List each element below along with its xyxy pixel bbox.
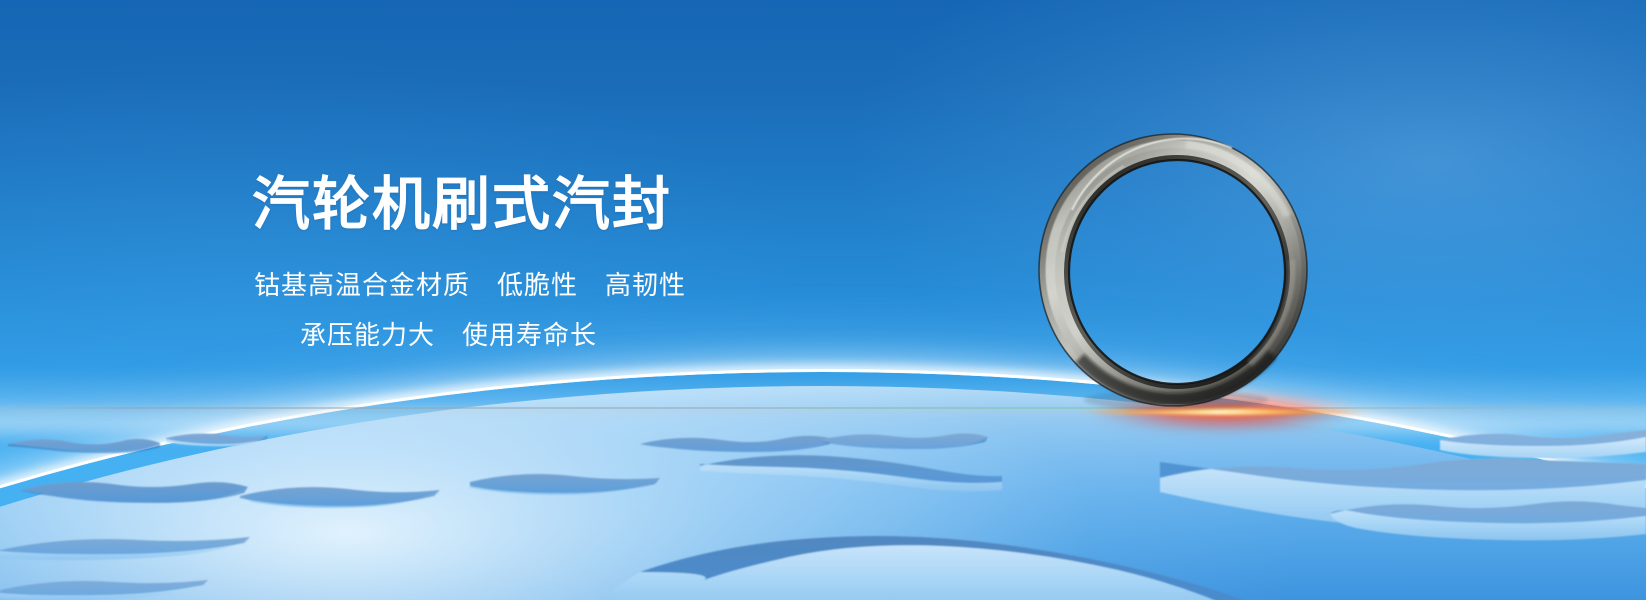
earth-globe-graphic bbox=[0, 0, 1646, 600]
banner-headline: 汽轮机刷式汽封 bbox=[252, 176, 672, 234]
metal-seal-ring-product-image bbox=[1036, 132, 1310, 408]
product-hero-banner: 汽轮机刷式汽封 钴基高温合金材质 低脆性 高韧性 承压能力大 使用寿命长 bbox=[0, 0, 1646, 600]
banner-subtitle-line-1: 钴基高温合金材质 低脆性 高韧性 bbox=[254, 272, 686, 298]
banner-subtitle-line-2: 承压能力大 使用寿命长 bbox=[300, 322, 597, 348]
globe-sphere bbox=[0, 386, 1646, 600]
